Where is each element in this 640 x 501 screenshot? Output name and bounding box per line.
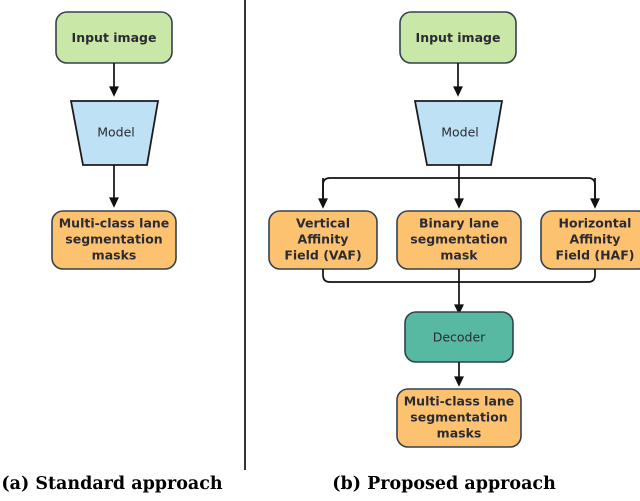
panel-b-vaf-label-line1: Vertical	[296, 216, 350, 231]
panel-a: Input image Model Multi-class lane segme…	[1, 12, 223, 494]
panel-b-node-decoder[interactable]: Decoder	[405, 312, 513, 362]
panel-b-node-input[interactable]: Input image	[400, 12, 516, 63]
panel-b-input-label: Input image	[416, 30, 501, 45]
panel-b-haf-label-line1: Horizontal	[559, 216, 632, 231]
panel-b-binary-label-line1: Binary lane	[419, 216, 499, 231]
figure-root: Input image Model Multi-class lane segme…	[0, 0, 640, 501]
panel-b-output-label-line3: masks	[437, 426, 482, 441]
panel-b-node-haf[interactable]: Horizontal Affinity Field (HAF)	[541, 211, 640, 269]
panel-a-node-input[interactable]: Input image	[56, 12, 172, 63]
panel-a-output-label-line2: segmentation	[65, 232, 162, 247]
panel-b-haf-label-line3: Field (HAF)	[556, 248, 635, 263]
panel-b-haf-label-line2: Affinity	[570, 232, 621, 247]
panel-b-decoder-label: Decoder	[433, 330, 486, 345]
panel-b-node-model[interactable]: Model	[415, 101, 502, 165]
panel-b-output-label-line1: Multi-class lane	[404, 394, 515, 409]
panel-b-node-binary[interactable]: Binary lane segmentation mask	[397, 211, 521, 269]
panel-a-output-label-line3: masks	[92, 248, 137, 263]
panel-a-output-label-line1: Multi-class lane	[59, 216, 170, 231]
panel-b: Input image Model Vertical Affinity Fiel…	[269, 12, 640, 494]
diagram-canvas: Input image Model Multi-class lane segme…	[0, 0, 640, 501]
panel-a-caption: (a) Standard approach	[1, 474, 223, 494]
panel-a-input-label: Input image	[72, 30, 157, 45]
panel-a-model-label: Model	[97, 125, 135, 140]
panel-b-node-vaf[interactable]: Vertical Affinity Field (VAF)	[269, 211, 377, 269]
panel-b-binary-label-line2: segmentation	[410, 232, 507, 247]
panel-b-binary-label-line3: mask	[440, 248, 478, 263]
panel-a-node-model[interactable]: Model	[71, 101, 158, 165]
panel-b-model-label: Model	[441, 125, 479, 140]
panel-a-node-output[interactable]: Multi-class lane segmentation masks	[52, 211, 176, 269]
panel-b-vaf-label-line3: Field (VAF)	[284, 248, 361, 263]
panel-b-output-label-line2: segmentation	[410, 410, 507, 425]
panel-b-vaf-label-line2: Affinity	[298, 232, 349, 247]
panel-b-node-output[interactable]: Multi-class lane segmentation masks	[397, 389, 521, 447]
panel-b-caption: (b) Proposed approach	[332, 474, 556, 494]
